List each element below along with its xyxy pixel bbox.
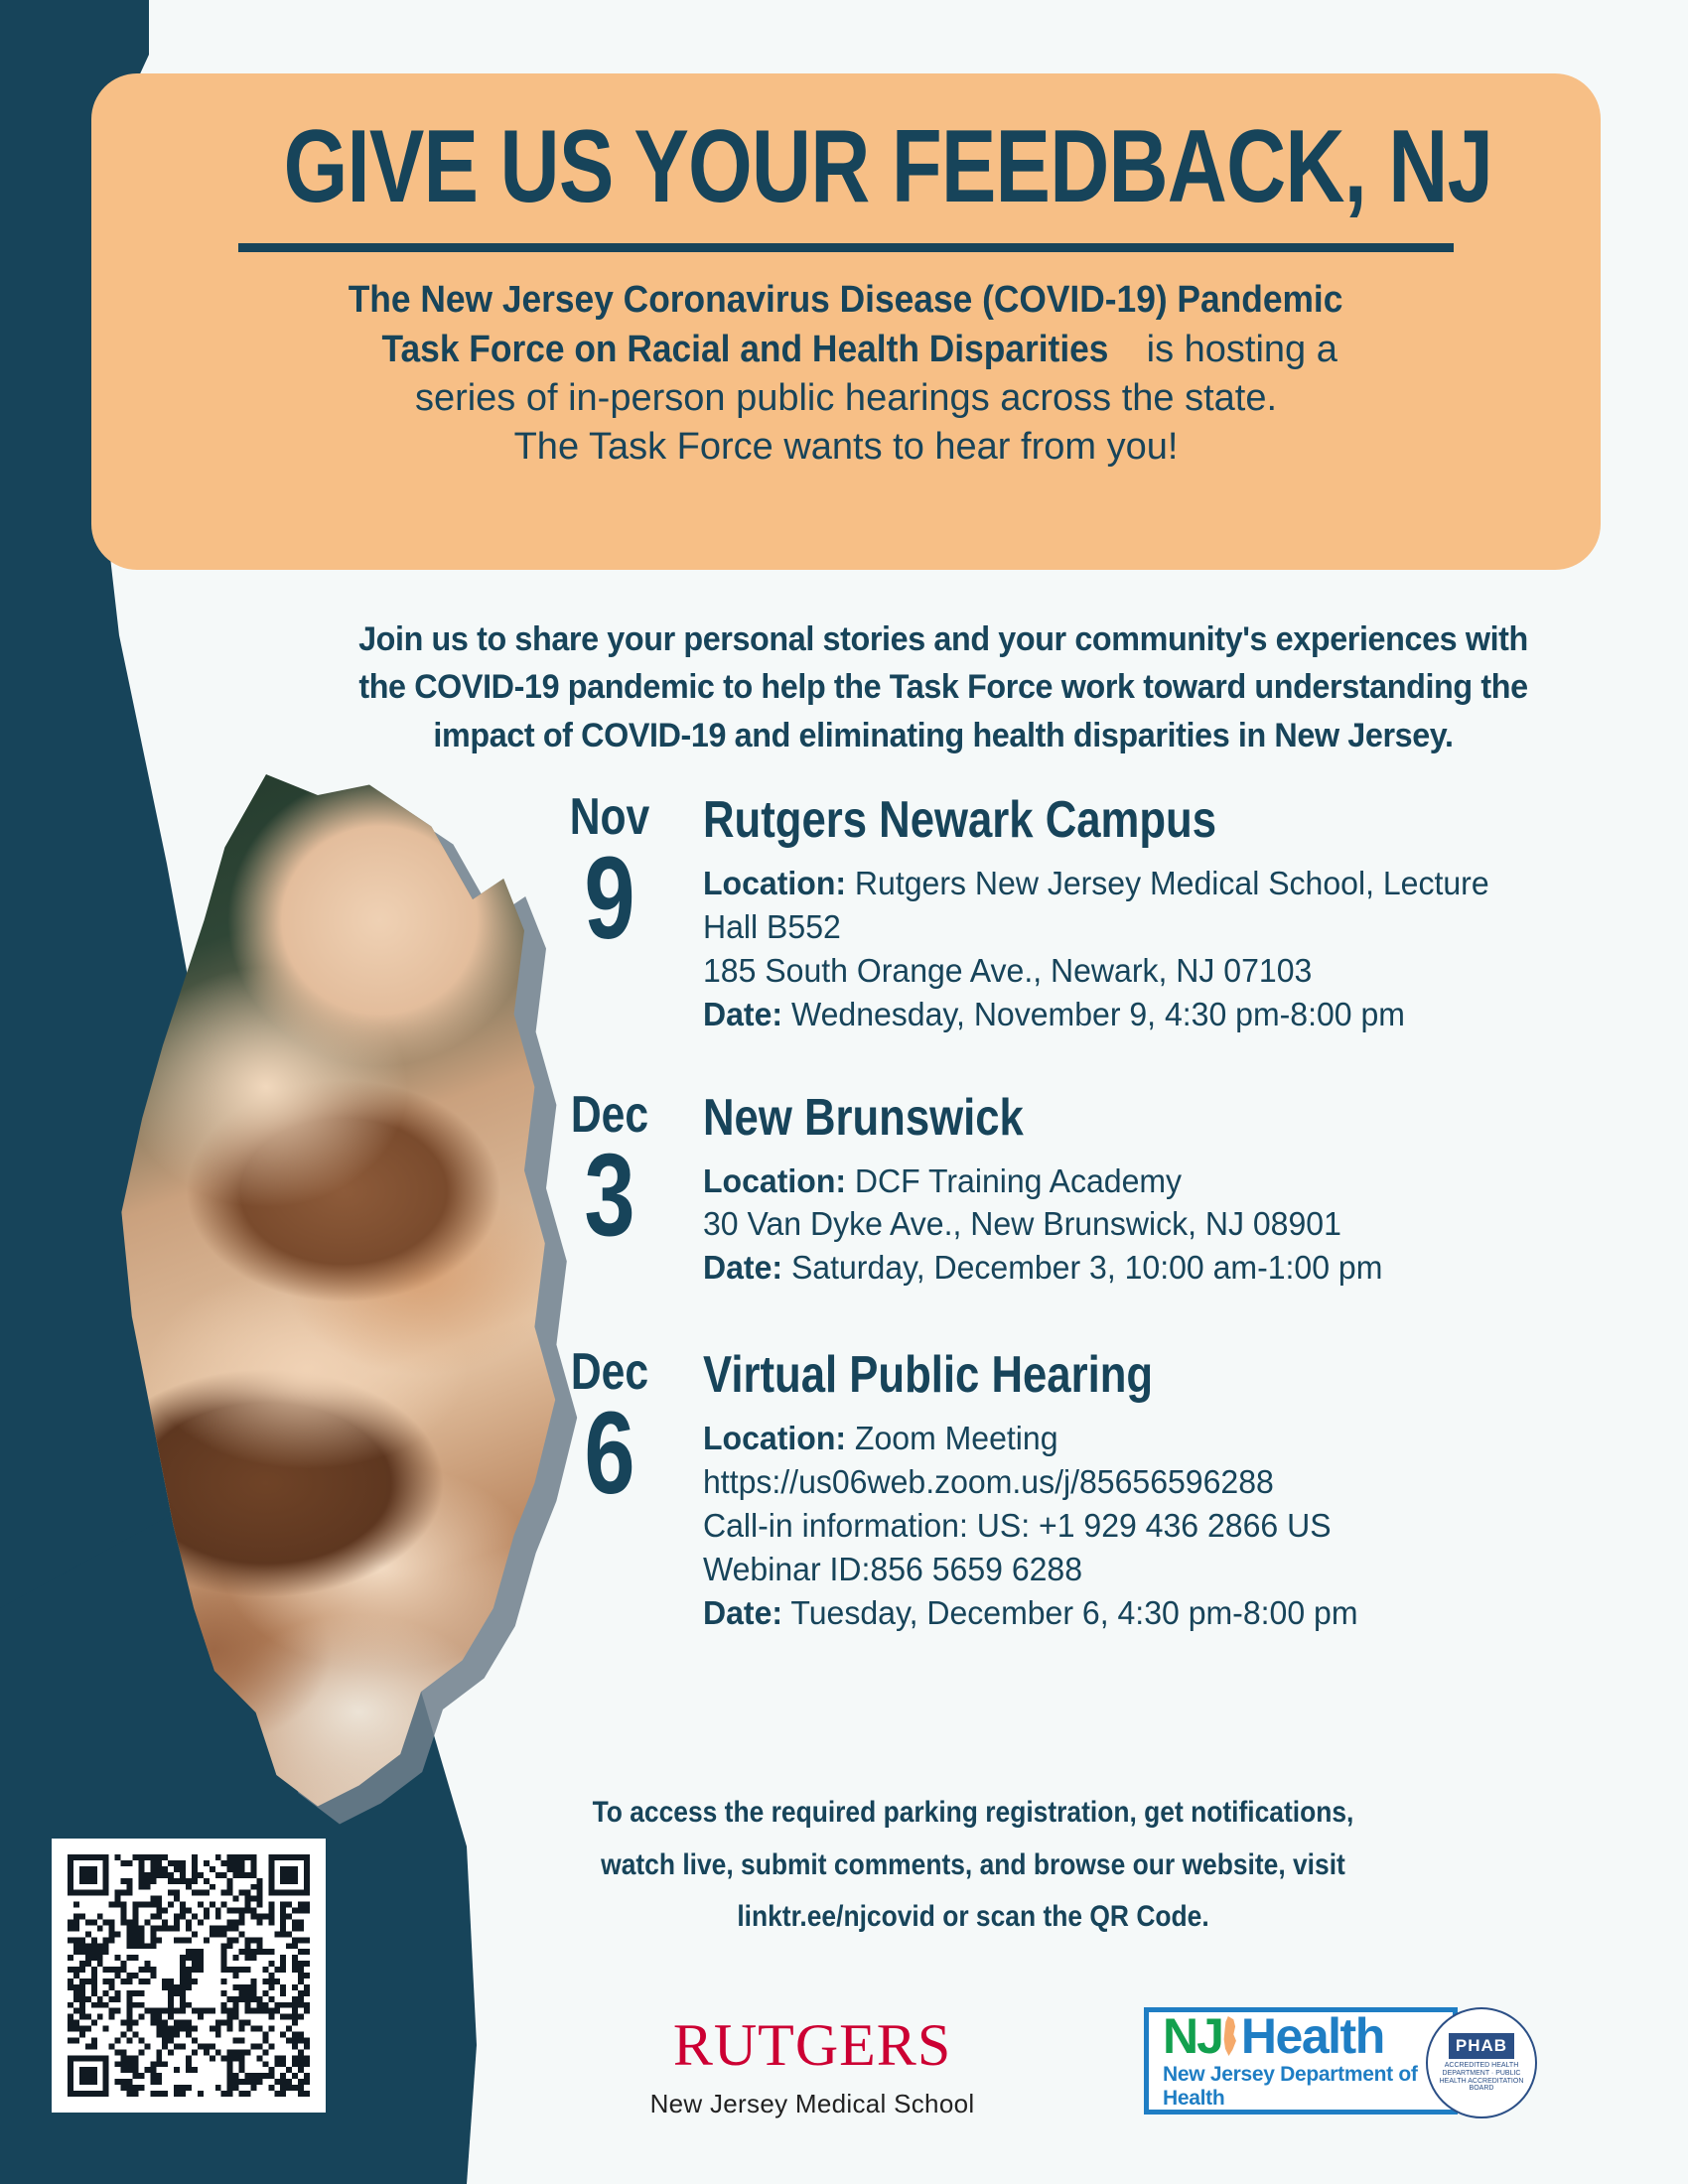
hands-together-image (60, 774, 576, 1817)
event-date-badge: Nov 9 (544, 794, 675, 954)
njhealth-health-text: Health (1241, 2011, 1384, 2061)
rutgers-wordmark: RUTGERS (643, 2015, 981, 2075)
detail-text: Call-in information: US: +1 929 436 2866… (703, 1507, 1332, 1544)
detail-label: Date: (703, 1594, 782, 1631)
qr-code-canvas[interactable] (68, 1854, 310, 2097)
event-details: Location: DCF Training Academy 30 Van Dy… (703, 1160, 1597, 1291)
event-detail-line: Date: Tuesday, December 6, 4:30 pm-8:00 … (703, 1591, 1570, 1635)
detail-text: DCF Training Academy (846, 1162, 1182, 1199)
detail-text: Tuesday, December 6, 4:30 pm-8:00 pm (782, 1594, 1357, 1631)
detail-label: Location: (703, 865, 846, 901)
detail-text: 30 Van Dyke Ave., New Brunswick, NJ 0890… (703, 1205, 1341, 1242)
event-detail-line: Location: Rutgers New Jersey Medical Sch… (703, 862, 1570, 905)
event-detail-line: Date: Saturday, December 3, 10:00 am-1:0… (703, 1246, 1570, 1290)
event-detail-line: 185 South Orange Ave., Newark, NJ 07103 (703, 949, 1570, 993)
detail-label: Date: (703, 1249, 782, 1286)
header-line-2-light: is hosting a (1136, 329, 1337, 370)
event-title: Virtual Public Hearing (703, 1349, 1454, 1401)
njhealth-subtitle: New Jersey Department of Health (1163, 2063, 1453, 2111)
event-list: Nov 9 Rutgers Newark Campus Location: Ru… (544, 794, 1597, 1681)
detail-text: Zoom Meeting (846, 1420, 1057, 1456)
event-details: Location: Zoom Meeting https://us06web.z… (703, 1417, 1597, 1634)
detail-label: Date: (703, 996, 782, 1032)
event-detail-line: 30 Van Dyke Ave., New Brunswick, NJ 0890… (703, 1202, 1570, 1246)
event-item: Nov 9 Rutgers Newark Campus Location: Ru… (544, 794, 1597, 1036)
header-description: The New Jersey Coronavirus Disease (COVI… (143, 276, 1549, 473)
event-detail-line: Webinar ID:856 5659 6288 (703, 1548, 1570, 1591)
phab-ring-text: ACCREDITED HEALTH DEPARTMENT · PUBLIC HE… (1434, 2062, 1529, 2093)
call-to-action: To access the required parking registrat… (496, 1787, 1450, 1944)
rutgers-logo: RUTGERS New Jersey Medical School (643, 2015, 981, 2119)
event-date-badge: Dec 6 (544, 1349, 675, 1509)
intro-line-3: impact of COVID-19 and eliminating healt… (321, 712, 1566, 759)
event-detail-line: Location: DCF Training Academy (703, 1160, 1570, 1203)
header-line-1-bold: The New Jersey Coronavirus Disease (COVI… (349, 276, 1343, 325)
phab-label: PHAB (1449, 2033, 1514, 2059)
event-day: 6 (559, 1399, 661, 1509)
event-detail-line: Date: Wednesday, November 9, 4:30 pm-8:0… (703, 993, 1570, 1036)
detail-text: Rutgers New Jersey Medical School, Lectu… (846, 865, 1489, 901)
event-day: 3 (559, 1141, 661, 1251)
nj-health-logo: NJ Health New Jersey Department of Healt… (1144, 2007, 1458, 2115)
detail-text: https://us06web.zoom.us/j/85656596288 (703, 1463, 1274, 1500)
title-divider (238, 243, 1454, 252)
event-item: Dec 6 Virtual Public Hearing Location: Z… (544, 1349, 1597, 1634)
flyer-page: GIVE US YOUR FEEDBACK, NJ The New Jersey… (0, 0, 1688, 2184)
header-line-1: The New Jersey Coronavirus Disease (COVI… (143, 276, 1549, 325)
header-line-3: series of in-person public hearings acro… (143, 374, 1549, 423)
event-details: Location: Rutgers New Jersey Medical Sch… (703, 862, 1597, 1036)
cta-line-2: watch live, submit comments, and browse … (554, 1840, 1393, 1892)
event-day: 9 (559, 844, 661, 954)
phab-accreditation-seal: PHAB ACCREDITED HEALTH DEPARTMENT · PUBL… (1426, 2007, 1537, 2118)
intro-line-2: the COVID-19 pandemic to help the Task F… (321, 663, 1566, 711)
page-title: GIVE US YOUR FEEDBACK, NJ (284, 113, 1409, 221)
event-body: Virtual Public Hearing Location: Zoom Me… (703, 1349, 1597, 1634)
event-body: New Brunswick Location: DCF Training Aca… (703, 1092, 1597, 1291)
event-detail-line: Hall B552 (703, 905, 1570, 949)
header-card: GIVE US YOUR FEEDBACK, NJ The New Jersey… (91, 73, 1601, 570)
new-jersey-photo-collage (60, 774, 576, 1817)
event-item: Dec 3 New Brunswick Location: DCF Traini… (544, 1092, 1597, 1291)
cta-line-1: To access the required parking registrat… (554, 1787, 1393, 1840)
event-date-badge: Dec 3 (544, 1092, 675, 1252)
event-detail-line: Call-in information: US: +1 929 436 2866… (703, 1504, 1570, 1548)
rutgers-subtitle: New Jersey Medical School (643, 2089, 981, 2119)
event-zoom-link[interactable]: https://us06web.zoom.us/j/85656596288 (703, 1460, 1570, 1504)
detail-label: Location: (703, 1420, 846, 1456)
event-body: Rutgers Newark Campus Location: Rutgers … (703, 794, 1597, 1036)
intro-line-1: Join us to share your personal stories a… (321, 615, 1566, 663)
detail-text: Hall B552 (703, 908, 841, 945)
njhealth-nj-text: NJ (1163, 2011, 1222, 2061)
nj-health-wordmark: NJ Health (1163, 2011, 1453, 2061)
detail-text: 185 South Orange Ave., Newark, NJ 07103 (703, 952, 1312, 989)
detail-label: Location: (703, 1162, 846, 1199)
intro-paragraph: Join us to share your personal stories a… (288, 615, 1599, 759)
header-line-2: Task Force on Racial and Health Disparit… (143, 326, 1549, 374)
event-detail-line: Location: Zoom Meeting (703, 1417, 1570, 1460)
detail-text: Wednesday, November 9, 4:30 pm-8:00 pm (782, 996, 1405, 1032)
cta-line-3[interactable]: linktr.ee/njcovid or scan the QR Code. (554, 1891, 1393, 1944)
header-line-4: The Task Force wants to hear from you! (143, 423, 1549, 472)
detail-text: Webinar ID:856 5659 6288 (703, 1551, 1082, 1587)
event-title: Rutgers Newark Campus (703, 794, 1454, 846)
event-title: New Brunswick (703, 1092, 1454, 1144)
detail-text: Saturday, December 3, 10:00 am-1:00 pm (782, 1249, 1382, 1286)
header-line-2-bold: Task Force on Racial and Health Disparit… (382, 326, 1109, 374)
qr-code[interactable] (52, 1839, 326, 2113)
